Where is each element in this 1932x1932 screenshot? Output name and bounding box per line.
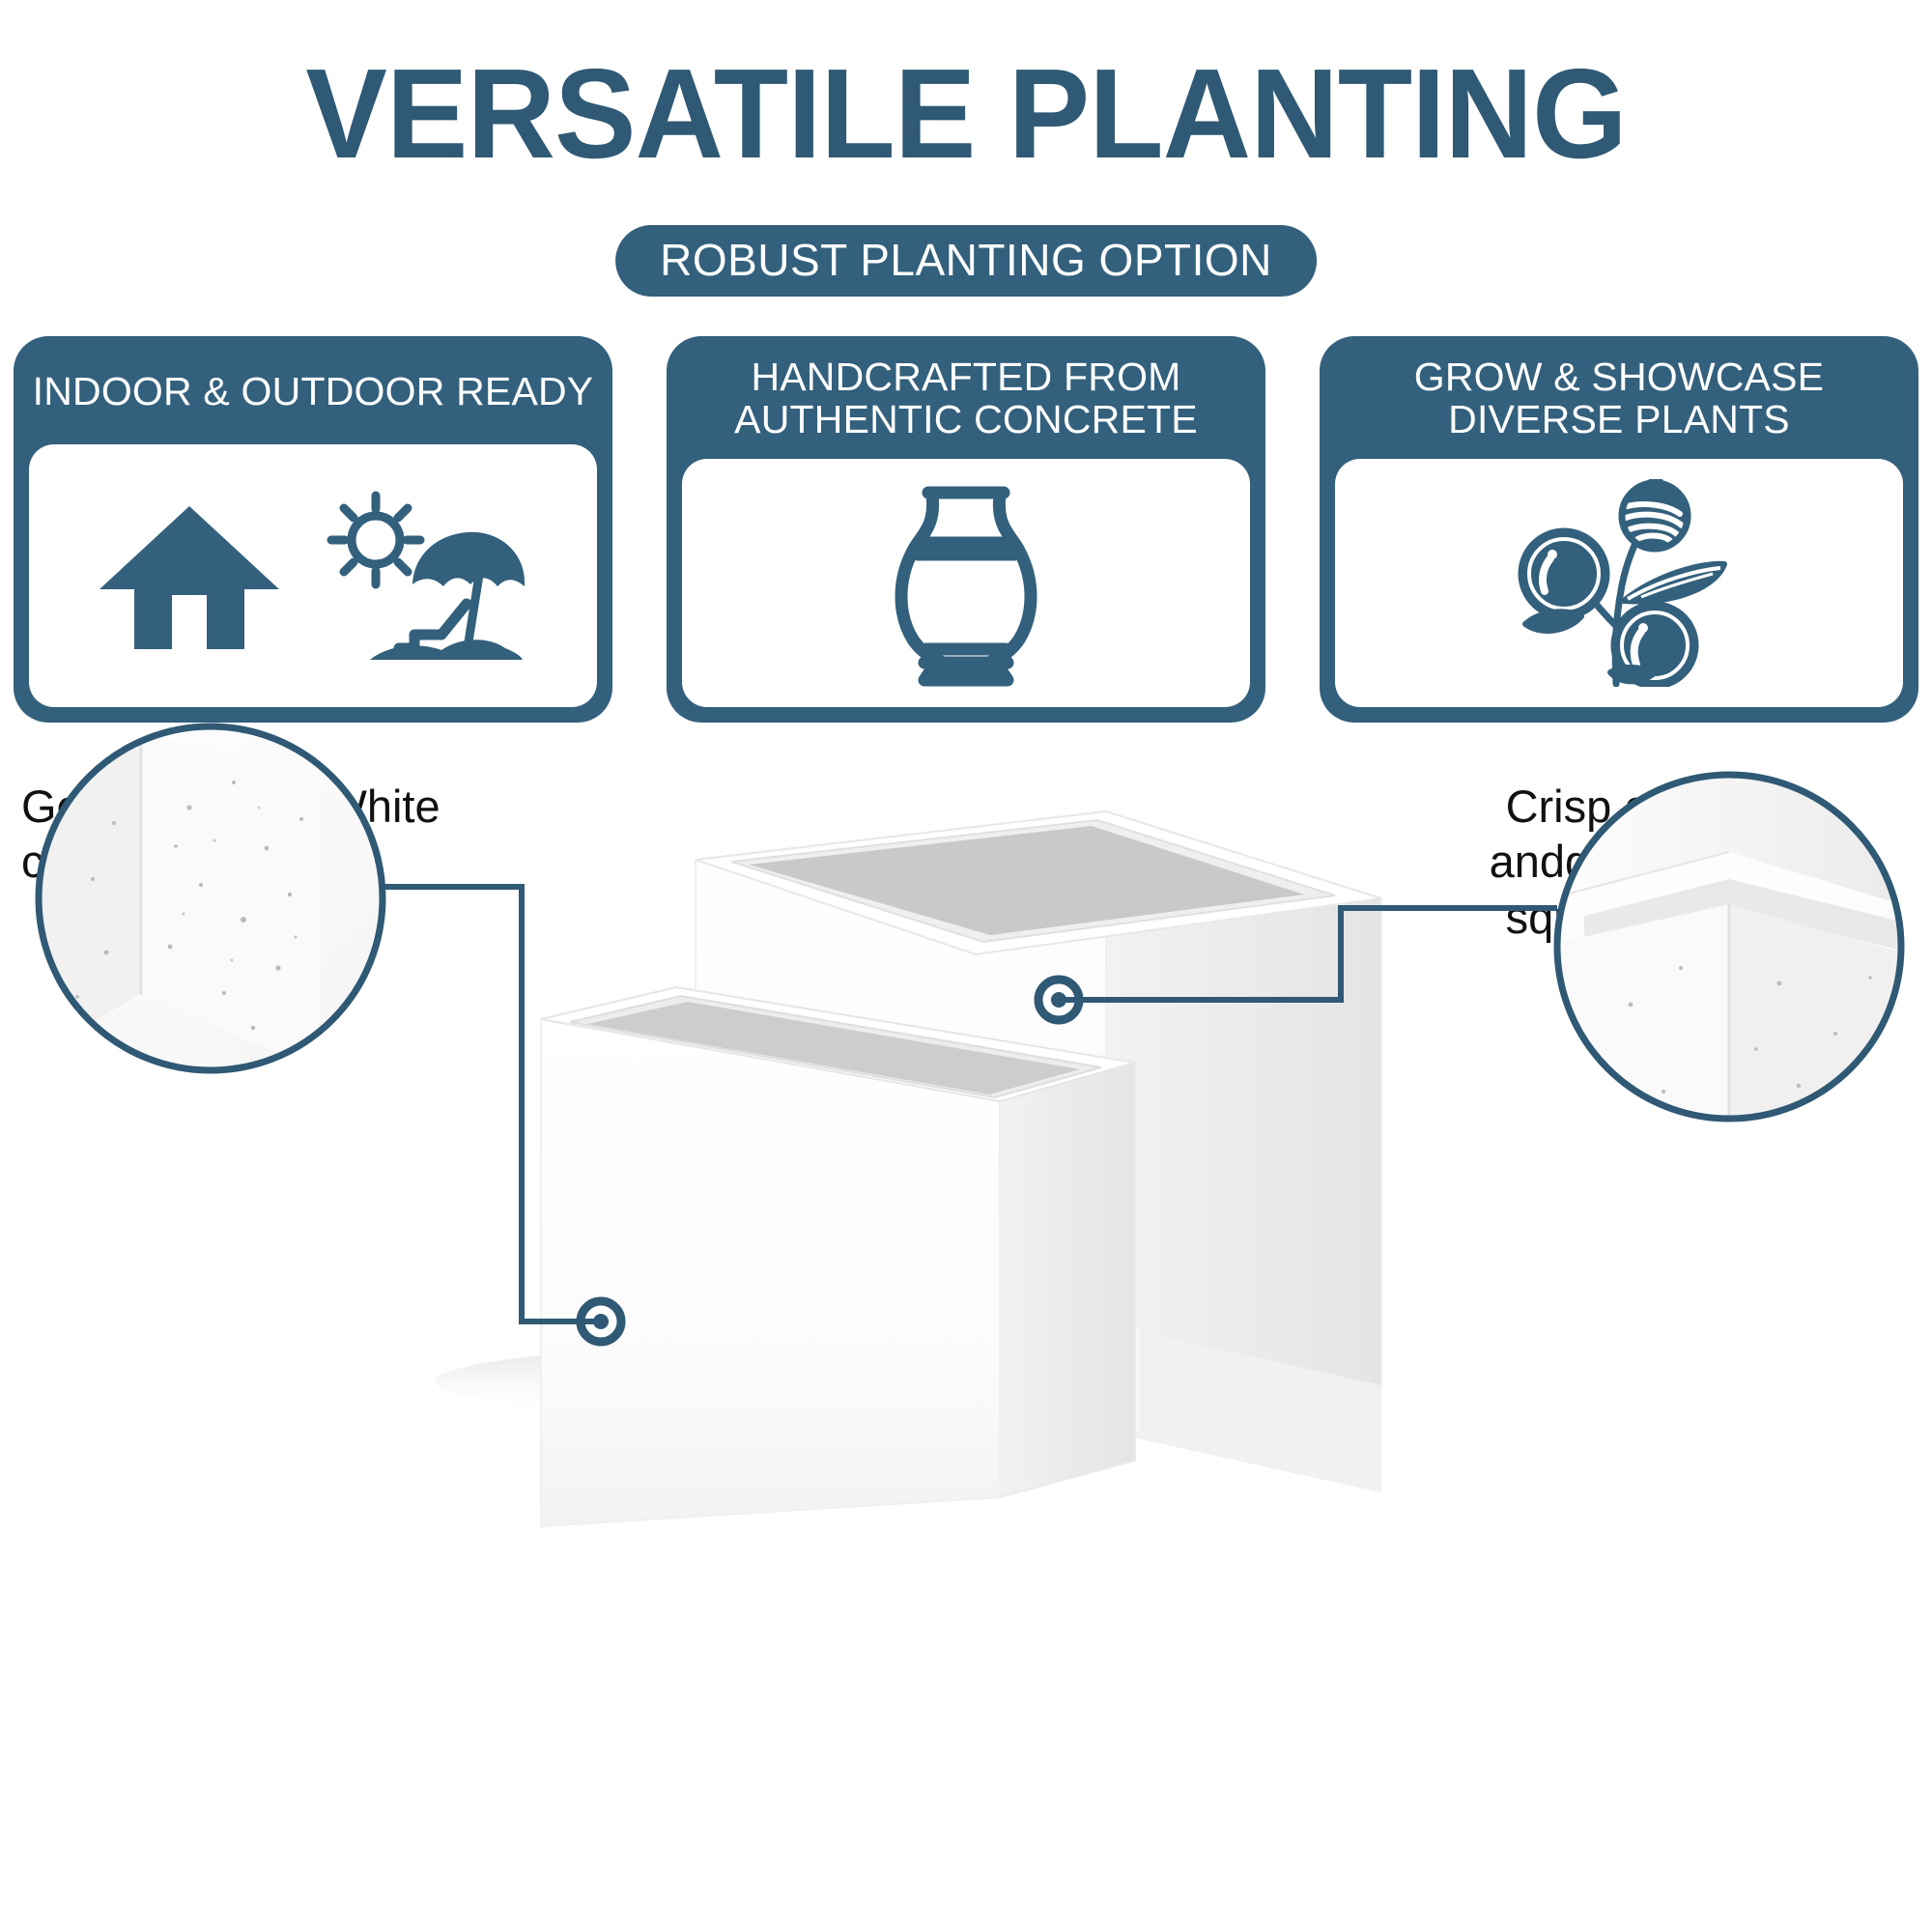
feature-card-title: HANDCRAFTED FROM AUTHENTIC CONCRETE [667,336,1265,459]
feature-card-icons [29,444,597,707]
infographic-root: VERSATILE PLANTING ROBUST PLANTING OPTIO… [0,0,1932,1932]
feature-cards-row: INDOOR & OUTDOOR READY [14,336,1918,723]
berry-plant-icon [1508,479,1730,687]
sand-mound-icon [370,639,523,660]
lounge-chair-icon [399,604,467,648]
vase-icon [865,479,1067,687]
product-scene [0,715,1932,1932]
sun-icon [331,496,420,584]
feature-card-diverse-plants: GROW & SHOWCASE DIVERSE PLANTS [1320,336,1918,723]
small-planter [541,987,1135,1526]
page-title: VERSATILE PLANTING [39,50,1893,178]
house-icon [98,489,281,663]
feature-card-title: GROW & SHOWCASE DIVERSE PLANTS [1320,336,1918,459]
sun-beach-group [306,484,528,668]
striped-bud [1622,479,1688,549]
leaf-right [1624,564,1724,602]
leaf-left [1525,611,1581,631]
feature-card-handcrafted-concrete: HANDCRAFTED FROM AUTHENTIC CONCRETE [667,336,1265,723]
feature-card-icons [1335,459,1903,707]
subtitle-badge: ROBUST PLANTING OPTION [615,225,1317,297]
feature-card-icons [682,459,1250,707]
feature-card-indoor-outdoor: INDOOR & OUTDOOR READY [14,336,612,723]
leaf-bottom [1610,668,1653,681]
callout-circle-left [39,726,383,1070]
feature-card-title: INDOOR & OUTDOOR READY [14,336,612,444]
berry-left [1521,531,1606,616]
callout-circle-right [1557,775,1901,1119]
